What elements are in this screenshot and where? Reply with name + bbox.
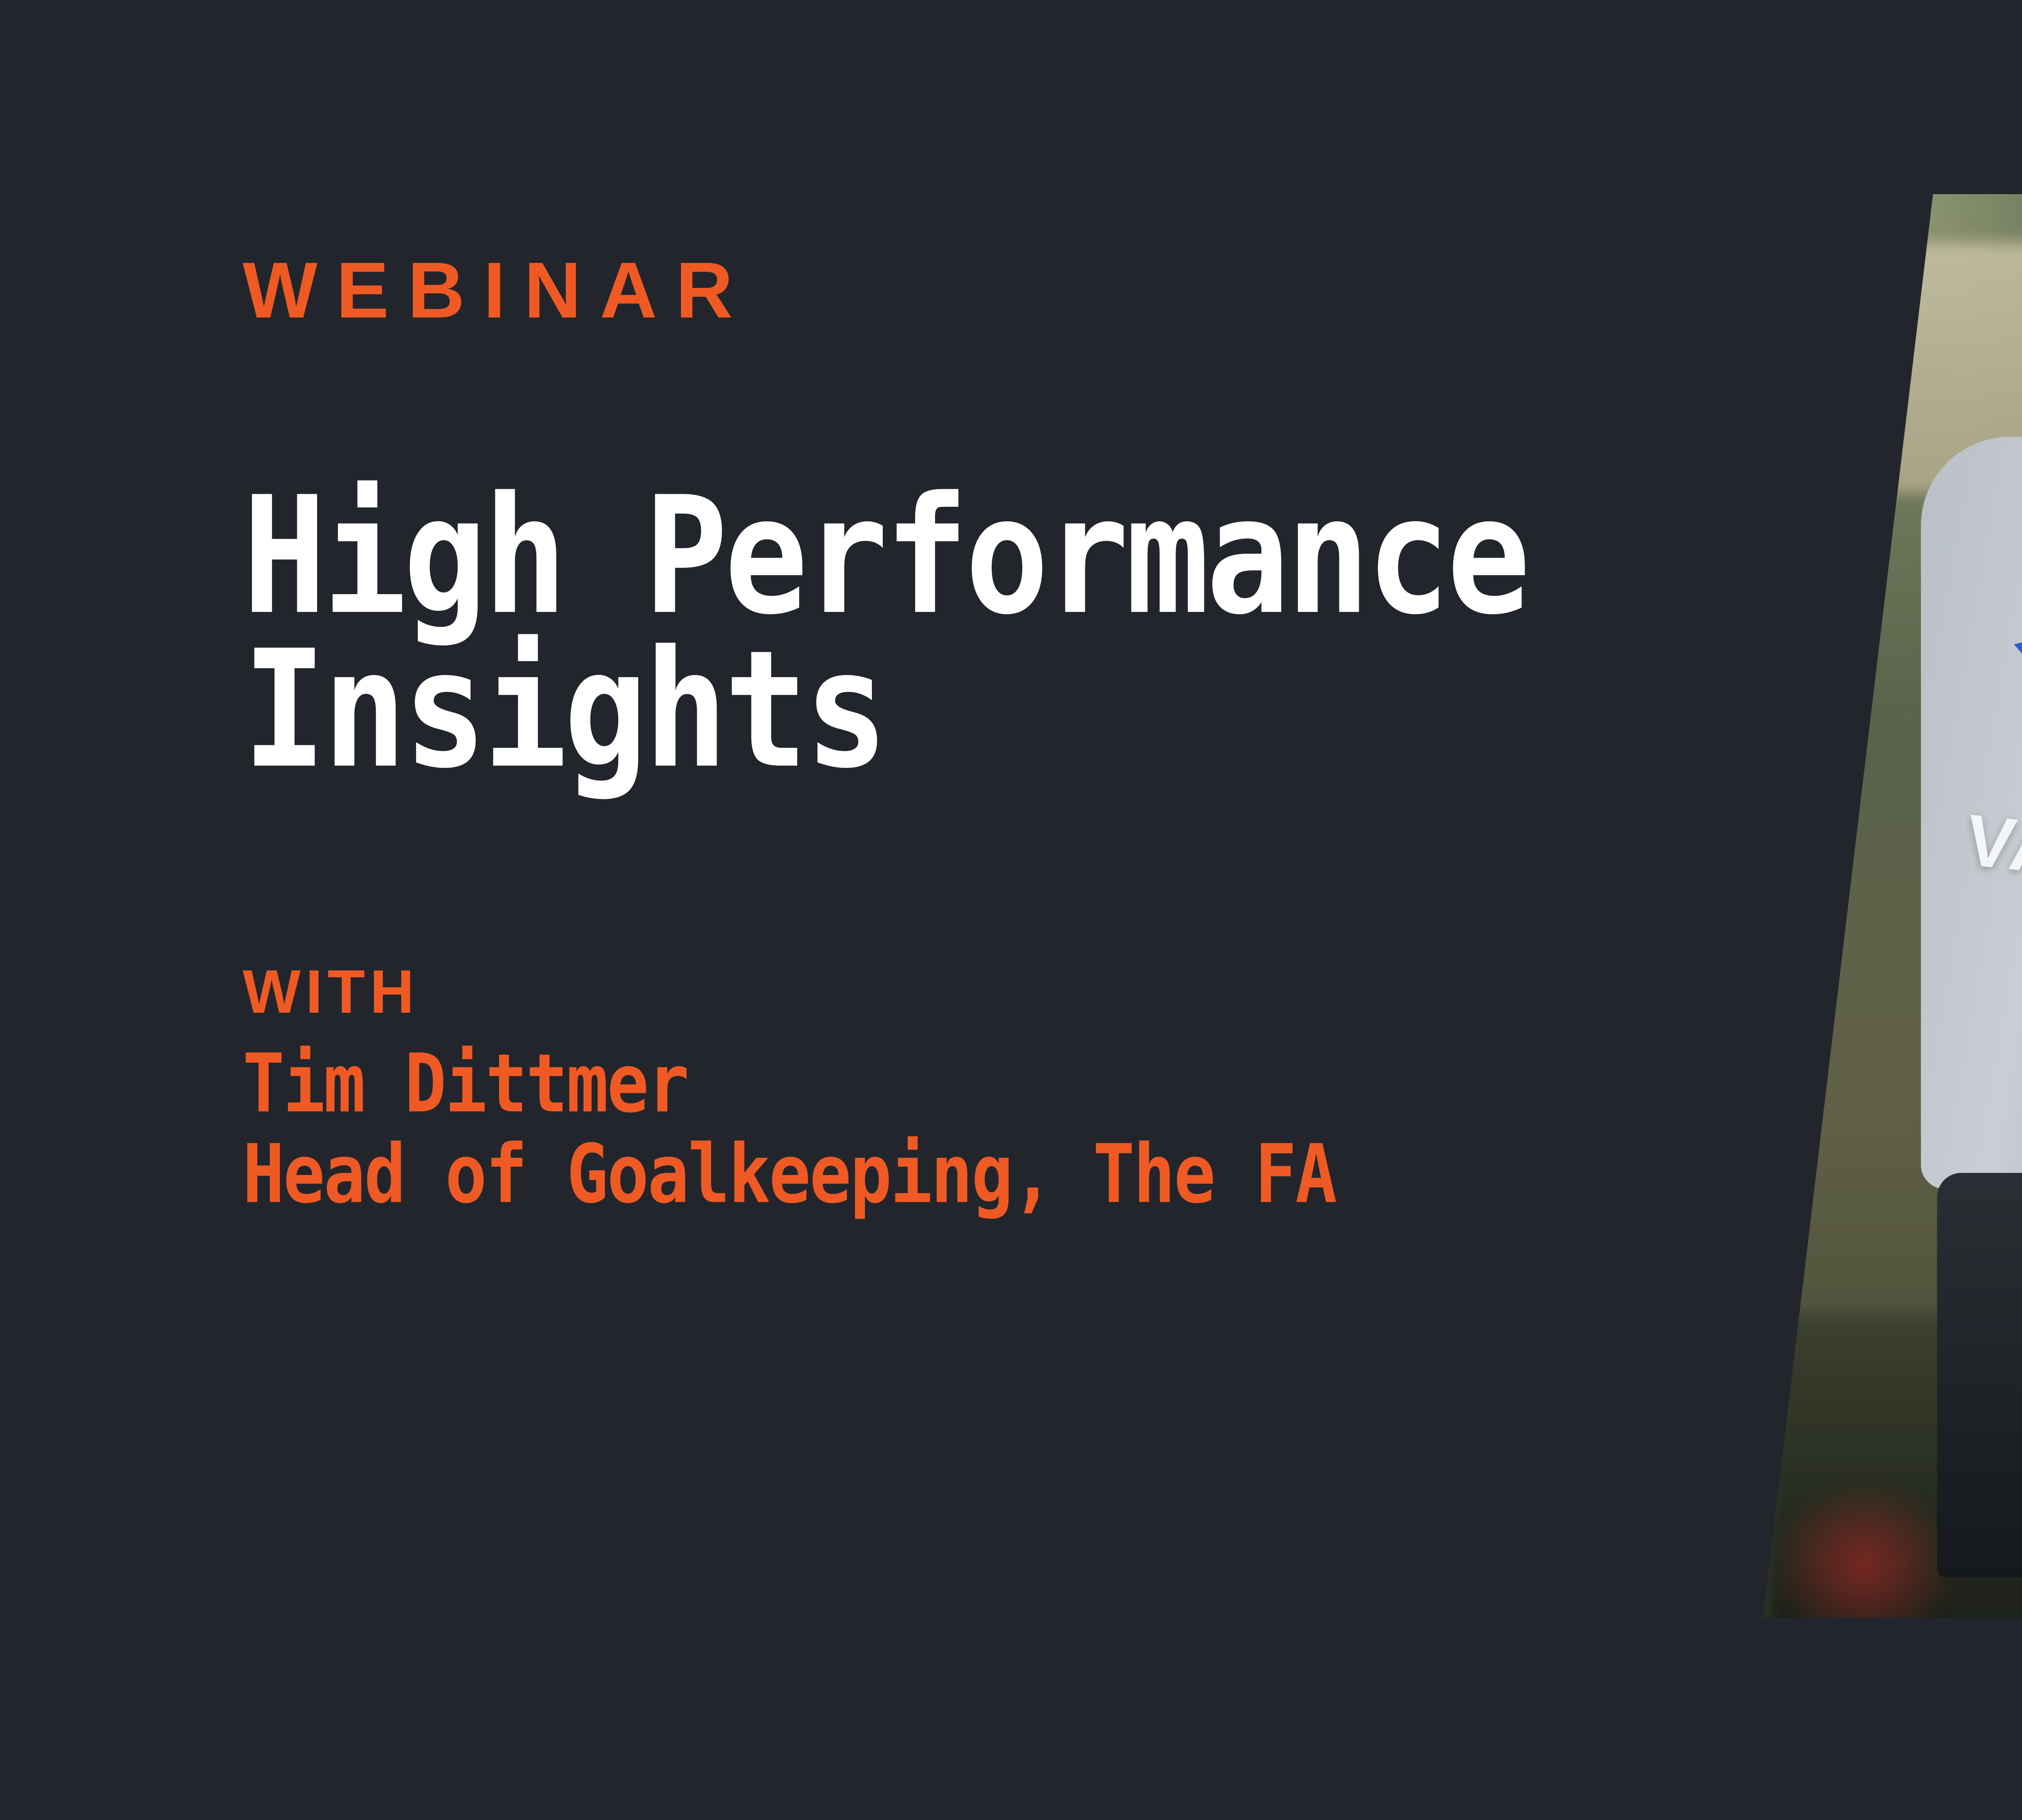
coach-shorts <box>1937 1173 2022 1577</box>
headline-line-2: Insights <box>243 633 1703 787</box>
coach-figure: VAUXHALL <box>1897 210 2022 1626</box>
eyebrow-label: WEBINAR <box>243 251 1941 330</box>
photo-a-image: VAUXHALL <box>1763 0 2022 1820</box>
photo-collage: VAUXHALL <box>1739 0 2022 1820</box>
photo-panel-coach: VAUXHALL <box>1763 0 2022 1820</box>
title-text-block: WEBINAR High Performance Insights WITH T… <box>243 251 1941 1220</box>
with-label: WITH <box>243 961 1941 1022</box>
speaker-name: Tim Dittmer <box>243 1039 1703 1129</box>
page-title: High Performance Insights <box>243 480 1703 787</box>
webinar-title-slide: WEBINAR High Performance Insights WITH T… <box>0 0 2022 1820</box>
speaker-role: Head of Goalkeeping, The FA <box>243 1129 1703 1220</box>
